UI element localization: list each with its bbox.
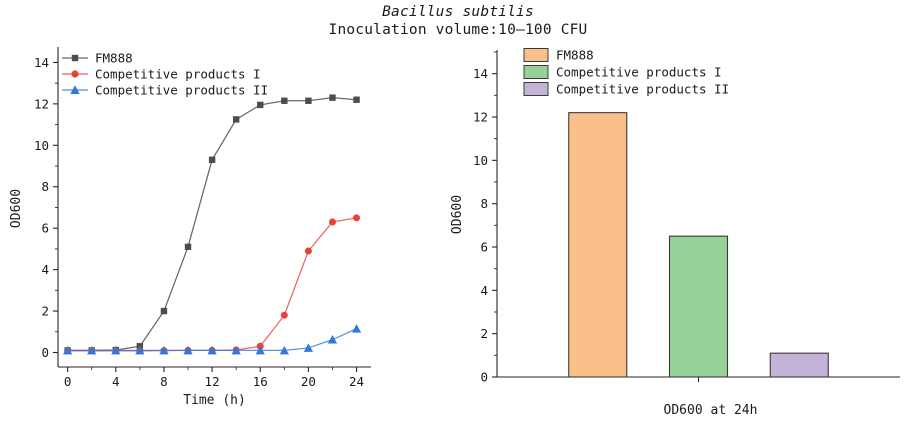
left-x-tick-label: 24	[349, 374, 364, 389]
right-x-axis-label: OD600 at 24h	[664, 403, 758, 418]
series-2-point	[328, 335, 337, 344]
bar-1[interactable]	[670, 236, 728, 377]
left-x-tick-label: 20	[301, 374, 316, 389]
left-legend-marker-0	[72, 55, 78, 61]
figure-canvas: 0246810121404812162024Time (h)OD600FM888…	[0, 0, 916, 430]
right-legend-swatch-0	[524, 49, 548, 62]
left-x-axis-label: Time (h)	[183, 393, 246, 408]
left-y-tick-label: 10	[34, 138, 49, 153]
right-legend-label-1: Competitive products I	[556, 64, 722, 79]
figure-root: Bacillus subtilis Inoculation volume:10–…	[0, 0, 916, 430]
left-y-axis-label: OD600	[9, 189, 24, 228]
right-y-tick-label: 4	[480, 283, 488, 298]
series-0-point	[209, 157, 215, 163]
left-x-tick-label: 8	[160, 374, 168, 389]
series-0-point	[233, 116, 239, 122]
right-legend-swatch-1	[524, 66, 548, 79]
series-line-1	[68, 218, 357, 351]
series-0-point	[353, 97, 359, 103]
series-1-point	[305, 247, 312, 254]
left-legend-label-1: Competitive products I	[95, 66, 261, 81]
series-1-point	[281, 312, 288, 319]
left-y-tick-label: 2	[41, 304, 49, 319]
series-1-point	[329, 218, 336, 225]
series-0-point	[329, 94, 335, 100]
right-y-tick-label: 14	[473, 66, 488, 81]
right-y-axis-label: OD600	[450, 195, 465, 234]
left-legend-label-0: FM888	[95, 50, 133, 65]
left-y-tick-label: 6	[41, 221, 49, 236]
left-y-tick-label: 8	[41, 179, 49, 194]
left-legend-marker-1	[71, 70, 78, 77]
bar-0[interactable]	[569, 113, 627, 377]
right-y-tick-label: 6	[480, 240, 488, 255]
left-x-tick-label: 16	[253, 374, 268, 389]
series-0-point	[257, 102, 263, 108]
right-legend-label-0: FM888	[556, 47, 594, 62]
left-y-tick-label: 0	[41, 345, 49, 360]
series-2-point	[304, 343, 313, 352]
right-legend-label-2: Competitive products II	[556, 81, 729, 96]
right-y-tick-label: 12	[473, 110, 488, 125]
series-0-point	[161, 308, 167, 314]
series-0-point	[305, 98, 311, 104]
series-0-point	[185, 244, 191, 250]
series-0-point	[281, 98, 287, 104]
line-chart-panel: 0246810121404812162024Time (h)OD600FM888…	[9, 47, 371, 408]
left-y-tick-label: 12	[34, 96, 49, 111]
left-x-tick-label: 0	[64, 374, 72, 389]
bar-2[interactable]	[770, 353, 828, 377]
right-y-tick-label: 10	[473, 153, 488, 168]
bar-chart-panel: 02468101214OD600 at 24hOD600FM888Competi…	[450, 47, 900, 418]
left-x-tick-label: 12	[205, 374, 220, 389]
left-legend-label-2: Competitive products II	[95, 82, 268, 97]
right-y-tick-label: 0	[480, 370, 488, 385]
right-y-tick-label: 8	[480, 196, 488, 211]
right-legend-swatch-2	[524, 83, 548, 96]
left-x-tick-label: 4	[112, 374, 120, 389]
series-2-point	[352, 324, 361, 333]
left-y-tick-label: 4	[41, 262, 49, 277]
left-y-tick-label: 14	[34, 55, 49, 70]
series-1-point	[353, 214, 360, 221]
right-y-tick-label: 2	[480, 326, 488, 341]
series-line-0	[68, 98, 357, 351]
